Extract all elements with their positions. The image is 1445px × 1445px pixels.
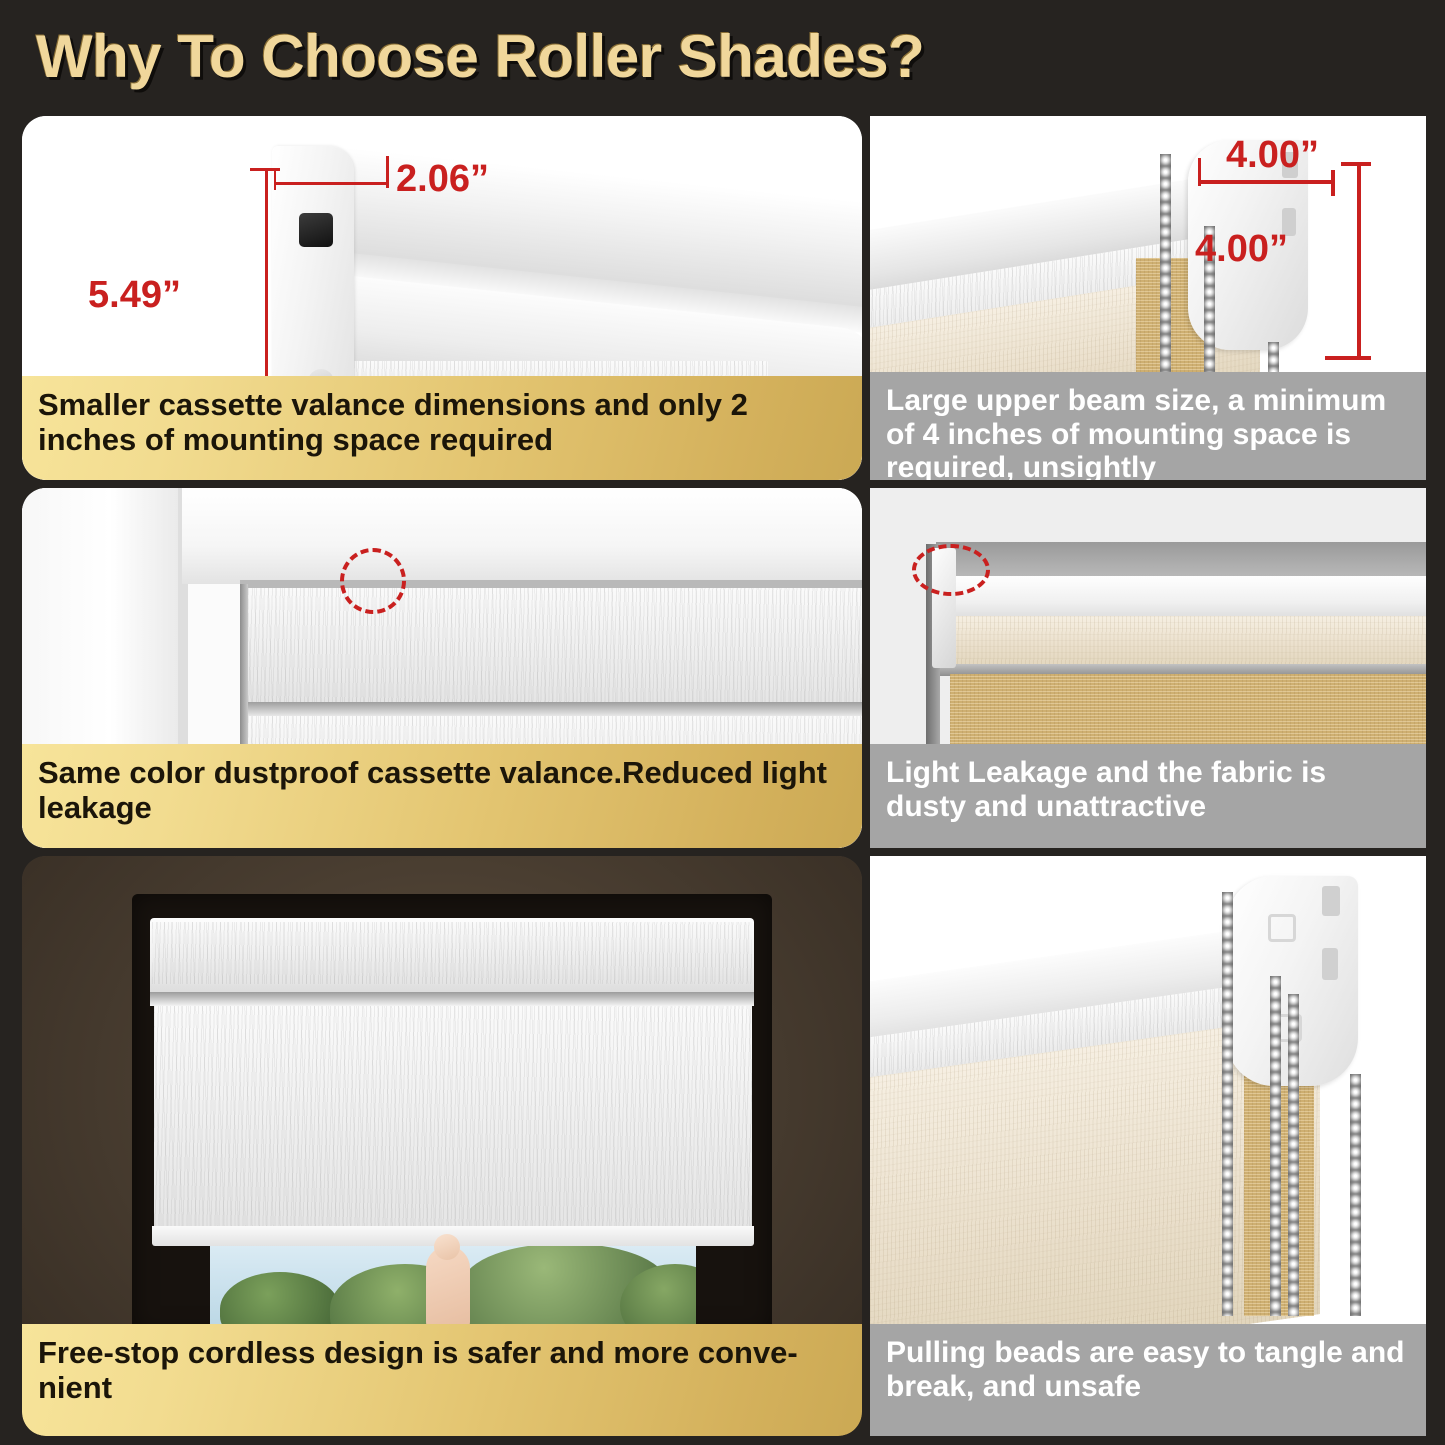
window-frame-top [182,488,862,584]
bracket-slot-2 [1322,948,1338,980]
bead-chain-4 [1350,1074,1361,1316]
panel-5-caption: Free-stop cordless design is safer and m… [22,1324,862,1436]
panel-2-caption: Large upper beam size, a minimum of 4 in… [870,372,1426,480]
cassette-lip [150,992,754,1006]
panel-cordless-design: Free-stop cordless design is safer and m… [22,856,862,1436]
beam-height-label: 4.00” [1195,228,1288,271]
height-dimension-label: 5.49” [88,274,181,317]
highlight-circle-icon [912,544,990,596]
beam-width-line [1198,180,1334,184]
panel-large-beam: 4.00” 4.00” Large upper beam size, a min… [870,116,1426,480]
shade-fabric-panel5 [154,1006,752,1234]
width-dimension-label: 2.06” [396,158,489,201]
beam-width-label: 4.00” [1226,134,1319,177]
bracket-slot-1 [1322,886,1340,916]
bead-chain-1 [1222,892,1233,1316]
panel-1-caption-text: Smaller cassette valance dimensions and … [38,388,846,457]
cassette-head-fabric [152,922,752,984]
page-title: Why To Choose Roller Shades? [36,22,924,91]
hand-fingers [434,1234,460,1260]
width-dim-tick-right [386,156,389,188]
upper-beam [932,576,1426,620]
infographic-root: Why To Choose Roller Shades? 2.06” [0,0,1445,1445]
width-dim-line [274,182,389,185]
cassette-face [244,588,862,706]
beam-fabric-wrap [934,616,1426,668]
panel-6-caption-text: Pulling beads are easy to tangle and bre… [886,1336,1410,1403]
panel-1-caption: Smaller cassette valance dimensions and … [22,376,862,480]
panel-6-caption: Pulling beads are easy to tangle and bre… [870,1324,1426,1436]
height-dim-tick-top [250,168,280,171]
end-cap-slot [299,213,333,247]
panel-2-caption-text: Large upper beam size, a minimum of 4 in… [886,384,1410,480]
beam-width-tick-right [1331,170,1335,196]
bead-chain-3 [1288,994,1299,1316]
beam-height-tick-bottom [1325,356,1371,360]
panel-3-caption-text: Same color dustproof cassette valance.Re… [38,756,846,825]
panel-4-caption-text: Light Leakage and the fabric is dusty an… [886,756,1410,823]
beam-height-line [1357,162,1361,360]
highlight-circle-icon [340,548,406,614]
panel-light-leakage: Large gap Light Leakage and the fabric i… [870,488,1426,848]
bead-chain-2 [1270,976,1281,1316]
panel-smaller-cassette: 2.06” 5.49” Smaller cassette valance dim… [22,116,862,480]
panel-dustproof-valance: smaller gap Same color dustproof cassett… [22,488,862,848]
bracket-emblem-1 [1268,914,1296,942]
panel-grid: 2.06” 5.49” Smaller cassette valance dim… [0,108,1445,1445]
panel-3-caption: Same color dustproof cassette valance.Re… [22,744,862,848]
beam-height-tick-top [1341,162,1371,166]
width-dim-tick-left [274,168,276,190]
panel-4-caption: Light Leakage and the fabric is dusty an… [870,744,1426,848]
bead-chain-1 [1160,154,1171,386]
panel-pulling-beads: Pulling beads are easy to tangle and bre… [870,856,1426,1436]
panel-5-caption-text: Free-stop cordless design is safer and m… [38,1336,846,1405]
